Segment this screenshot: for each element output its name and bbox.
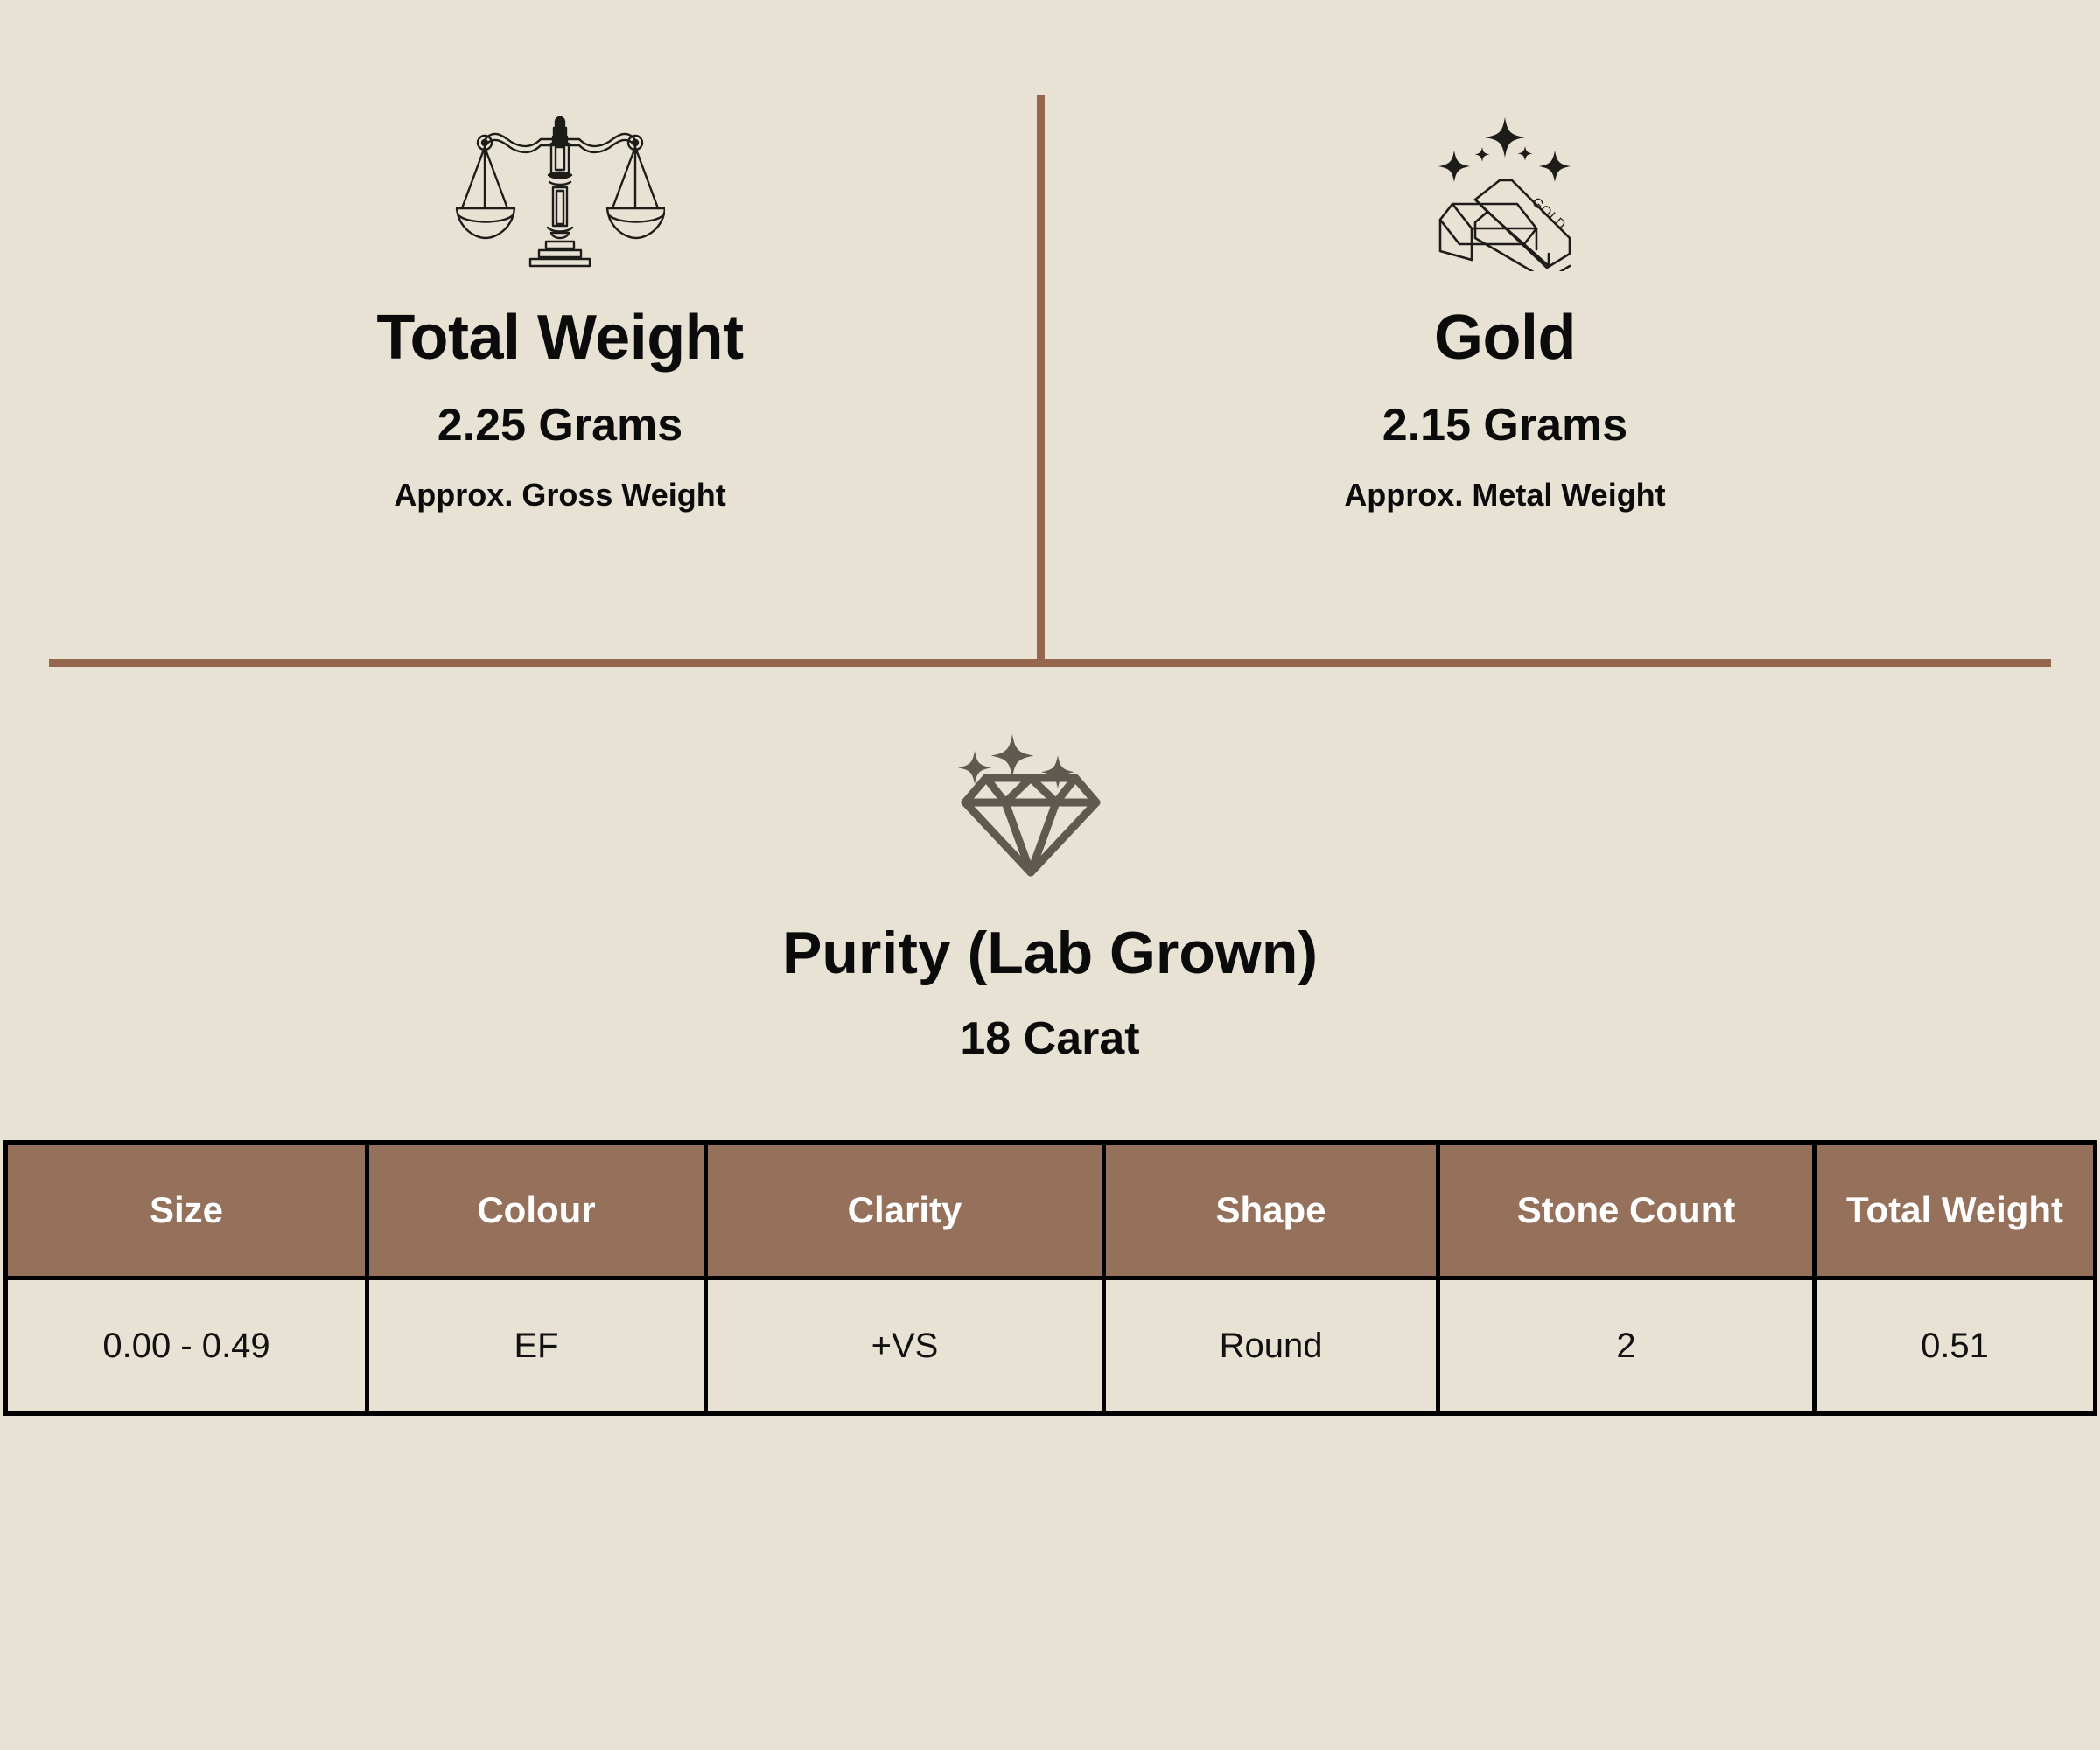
column-header-stone-count: Stone Count — [1438, 1143, 1815, 1278]
cell-stone-count: 2 — [1438, 1278, 1815, 1414]
panel-value: 2.25 Grams — [437, 402, 682, 448]
panel-title: Total Weight — [376, 306, 743, 369]
column-header-clarity: Clarity — [706, 1143, 1104, 1278]
spec-table-container: Size Colour Clarity Shape Stone Count To… — [3, 1140, 2093, 1416]
panel-caption: Approx. Metal Weight — [1344, 479, 1665, 511]
diamond-icon — [949, 726, 1151, 888]
vertical-divider — [1037, 94, 1045, 661]
table-header-row: Size Colour Clarity Shape Stone Count To… — [6, 1143, 2096, 1278]
column-header-shape: Shape — [1104, 1143, 1438, 1278]
cell-shape: Round — [1104, 1278, 1438, 1414]
purity-value: 18 Carat — [960, 1016, 1139, 1061]
cell-total-weight: 0.51 — [1815, 1278, 2096, 1414]
gold-bars-icon: GOLD — [1400, 105, 1610, 271]
panel-total-weight: Total Weight 2.25 Grams Approx. Gross We… — [122, 105, 997, 511]
panel-purity: Purity (Lab Grown) 18 Carat — [0, 726, 2100, 1061]
column-header-size: Size — [6, 1143, 367, 1278]
cell-size: 0.00 - 0.49 — [6, 1278, 367, 1414]
panel-gold: GOLD Gold 2.15 Grams Approx. Metal Weigh… — [1067, 105, 1942, 511]
panel-title: Gold — [1434, 306, 1576, 369]
horizontal-divider — [49, 659, 2051, 667]
panel-value: 2.15 Grams — [1382, 402, 1627, 448]
stone-spec-table: Size Colour Clarity Shape Stone Count To… — [3, 1140, 2097, 1416]
summary-region: Total Weight 2.25 Grams Approx. Gross We… — [0, 0, 2100, 661]
cell-clarity: +VS — [706, 1278, 1104, 1414]
balance-scale-icon — [455, 105, 665, 271]
cell-colour: EF — [367, 1278, 706, 1414]
table-row: 0.00 - 0.49 EF +VS Round 2 0.51 — [6, 1278, 2096, 1414]
purity-title: Purity (Lab Grown) — [782, 923, 1318, 983]
panel-caption: Approx. Gross Weight — [394, 479, 725, 511]
column-header-total-weight: Total Weight — [1815, 1143, 2096, 1278]
column-header-colour: Colour — [367, 1143, 706, 1278]
